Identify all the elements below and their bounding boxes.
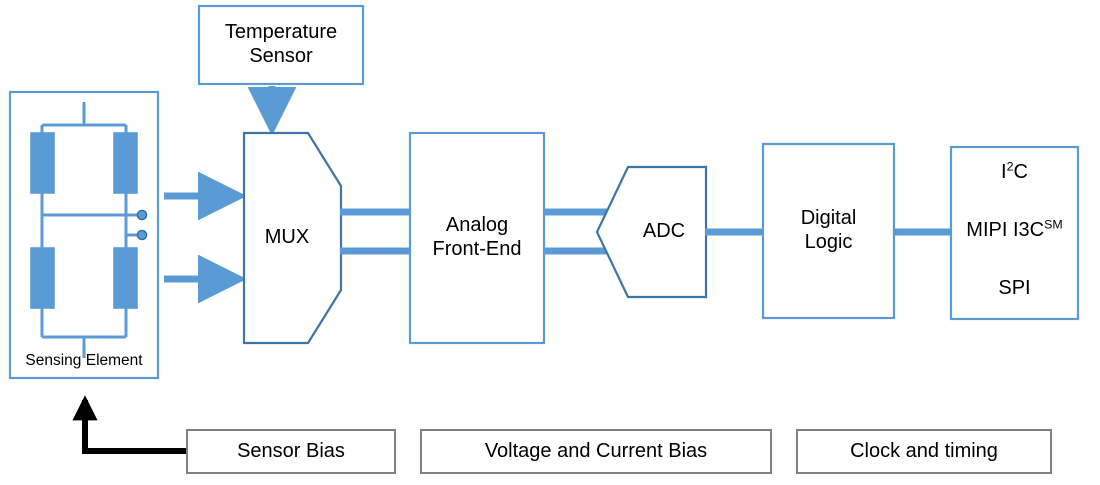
analog-front-end-box[interactable] [410, 133, 544, 343]
interface-i2c-sup: 2 [1007, 159, 1014, 173]
voltage-current-bias-label: Voltage and Current Bias [422, 431, 770, 472]
mux-block[interactable] [244, 133, 341, 343]
interface-spi-base: SPI [998, 277, 1030, 299]
temperature-sensor-box[interactable] [199, 6, 363, 84]
sensor-bias-label: Sensor Bias [188, 431, 394, 472]
interface-line-spi: SPI [951, 277, 1078, 300]
resistor-bottom-right [114, 248, 137, 308]
sensing-element-label: Sensing Element [10, 352, 158, 370]
adc-block[interactable] [597, 167, 706, 297]
voltage-current-bias-box[interactable]: Voltage and Current Bias [420, 429, 772, 474]
resistor-top-right [114, 133, 137, 193]
interface-line-mipi-i3c: MIPI I3CSM [951, 219, 1078, 242]
interface-i2c-tail: C [1014, 161, 1028, 183]
diagram-vector-layer [0, 0, 1100, 485]
interface-line-i2c: I2C [951, 161, 1078, 184]
block-diagram-canvas: Temperature Sensor MUX Analog Front-End … [0, 0, 1100, 485]
connector-sensor-bias-to-sensing-element [85, 400, 186, 451]
clock-timing-label: Clock and timing [798, 431, 1050, 472]
bridge-terminal-dot-upper [137, 210, 146, 219]
clock-timing-box[interactable]: Clock and timing [796, 429, 1052, 474]
interface-mipi-base: MIPI I3C [966, 219, 1044, 241]
resistor-top-left [31, 133, 54, 193]
bridge-terminal-dot-lower [137, 230, 146, 239]
sensor-bias-box[interactable]: Sensor Bias [186, 429, 396, 474]
resistor-bottom-left [31, 248, 54, 308]
interface-mipi-sup: SM [1044, 217, 1063, 231]
interface-text-group: I2C MIPI I3CSM SPI [951, 147, 1078, 319]
digital-logic-box[interactable] [763, 144, 894, 318]
